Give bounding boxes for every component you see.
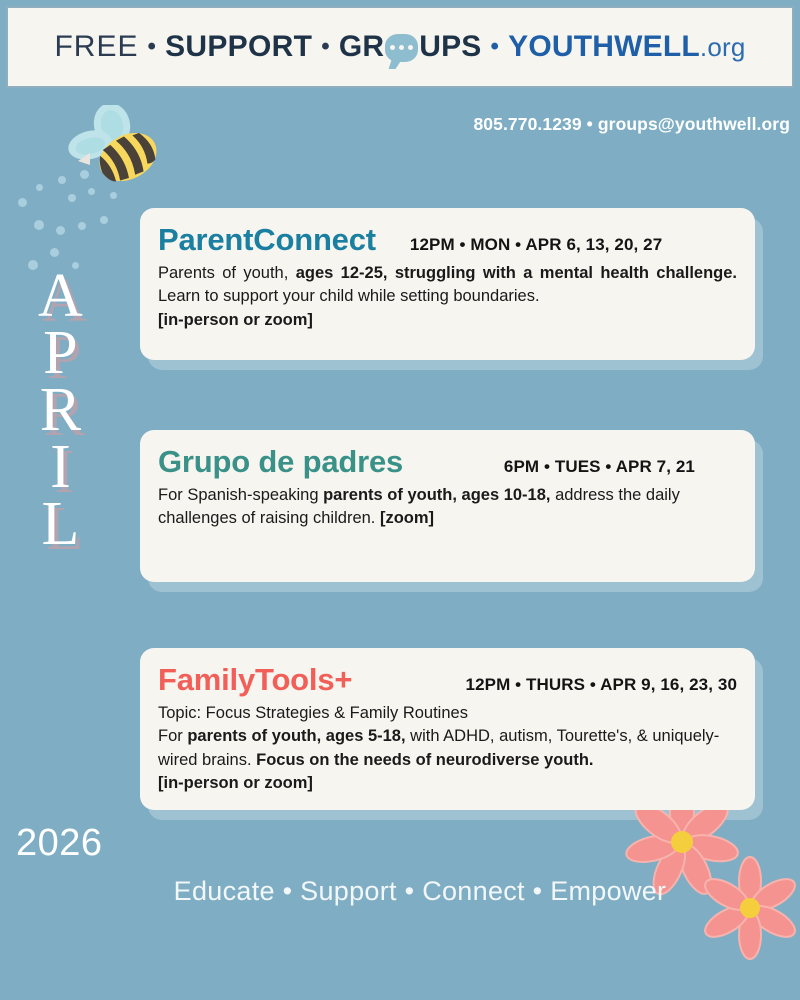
program-card-parentconnect[interactable]: ParentConnect 12PM • MON • APR 6, 13, 20… bbox=[140, 208, 755, 360]
card-title: FamilyTools+ bbox=[158, 662, 352, 698]
program-card-grupo-de-padres[interactable]: Grupo de padres 6PM • TUES • APR 7, 21 F… bbox=[140, 430, 755, 582]
logo-support-text: SUPPORT bbox=[165, 30, 312, 64]
month-letter: I bbox=[50, 439, 71, 496]
header-logo-bar: FREE • SUPPORT • GR UPS • YOUTHWELL .org bbox=[6, 6, 794, 88]
tagline: Educate • Support • Connect • Empower bbox=[0, 876, 800, 907]
logo-youthwell-text: YOUTHWELL bbox=[508, 30, 700, 64]
card-schedule: 12PM • THURS • APR 9, 16, 23, 30 bbox=[466, 675, 737, 695]
month-label: A P R I L bbox=[38, 268, 83, 553]
logo-separator-3: • bbox=[491, 33, 500, 61]
logo-gr-text: GR bbox=[339, 30, 384, 64]
logo-separator-1: • bbox=[147, 33, 156, 61]
card-title: Grupo de padres bbox=[158, 444, 403, 480]
card-header: ParentConnect 12PM • MON • APR 6, 13, 20… bbox=[158, 222, 737, 258]
logo-org-text: .org bbox=[700, 32, 746, 63]
card-schedule: 12PM • MON • APR 6, 13, 20, 27 bbox=[410, 235, 662, 255]
month-letter: P bbox=[43, 325, 77, 382]
logo-wordmark: FREE • SUPPORT • GR UPS • YOUTHWELL .org bbox=[54, 30, 745, 64]
month-letter: A bbox=[38, 268, 83, 325]
logo-free-text: FREE bbox=[54, 30, 138, 64]
speech-bubble-icon bbox=[385, 34, 418, 62]
card-description: For Spanish-speaking parents of youth, a… bbox=[158, 484, 737, 531]
program-card-familytools[interactable]: FamilyTools+ 12PM • THURS • APR 9, 16, 2… bbox=[140, 648, 755, 810]
card-schedule: 6PM • TUES • APR 7, 21 bbox=[504, 457, 695, 477]
logo-separator-2: • bbox=[321, 33, 330, 61]
card-header: Grupo de padres 6PM • TUES • APR 7, 21 bbox=[158, 444, 737, 480]
contact-line[interactable]: 805.770.1239 • groups@youthwell.org bbox=[473, 114, 790, 135]
card-description: Parents of youth, ages 12-25, struggling… bbox=[158, 262, 737, 332]
card-title: ParentConnect bbox=[158, 222, 376, 258]
year-label: 2026 bbox=[16, 822, 103, 865]
logo-ups-text: UPS bbox=[419, 30, 481, 64]
card-header: FamilyTools+ 12PM • THURS • APR 9, 16, 2… bbox=[158, 662, 737, 698]
month-letter: L bbox=[41, 496, 79, 553]
card-description: Topic: Focus Strategies & Family Routine… bbox=[158, 702, 737, 796]
month-letter: R bbox=[40, 382, 81, 439]
